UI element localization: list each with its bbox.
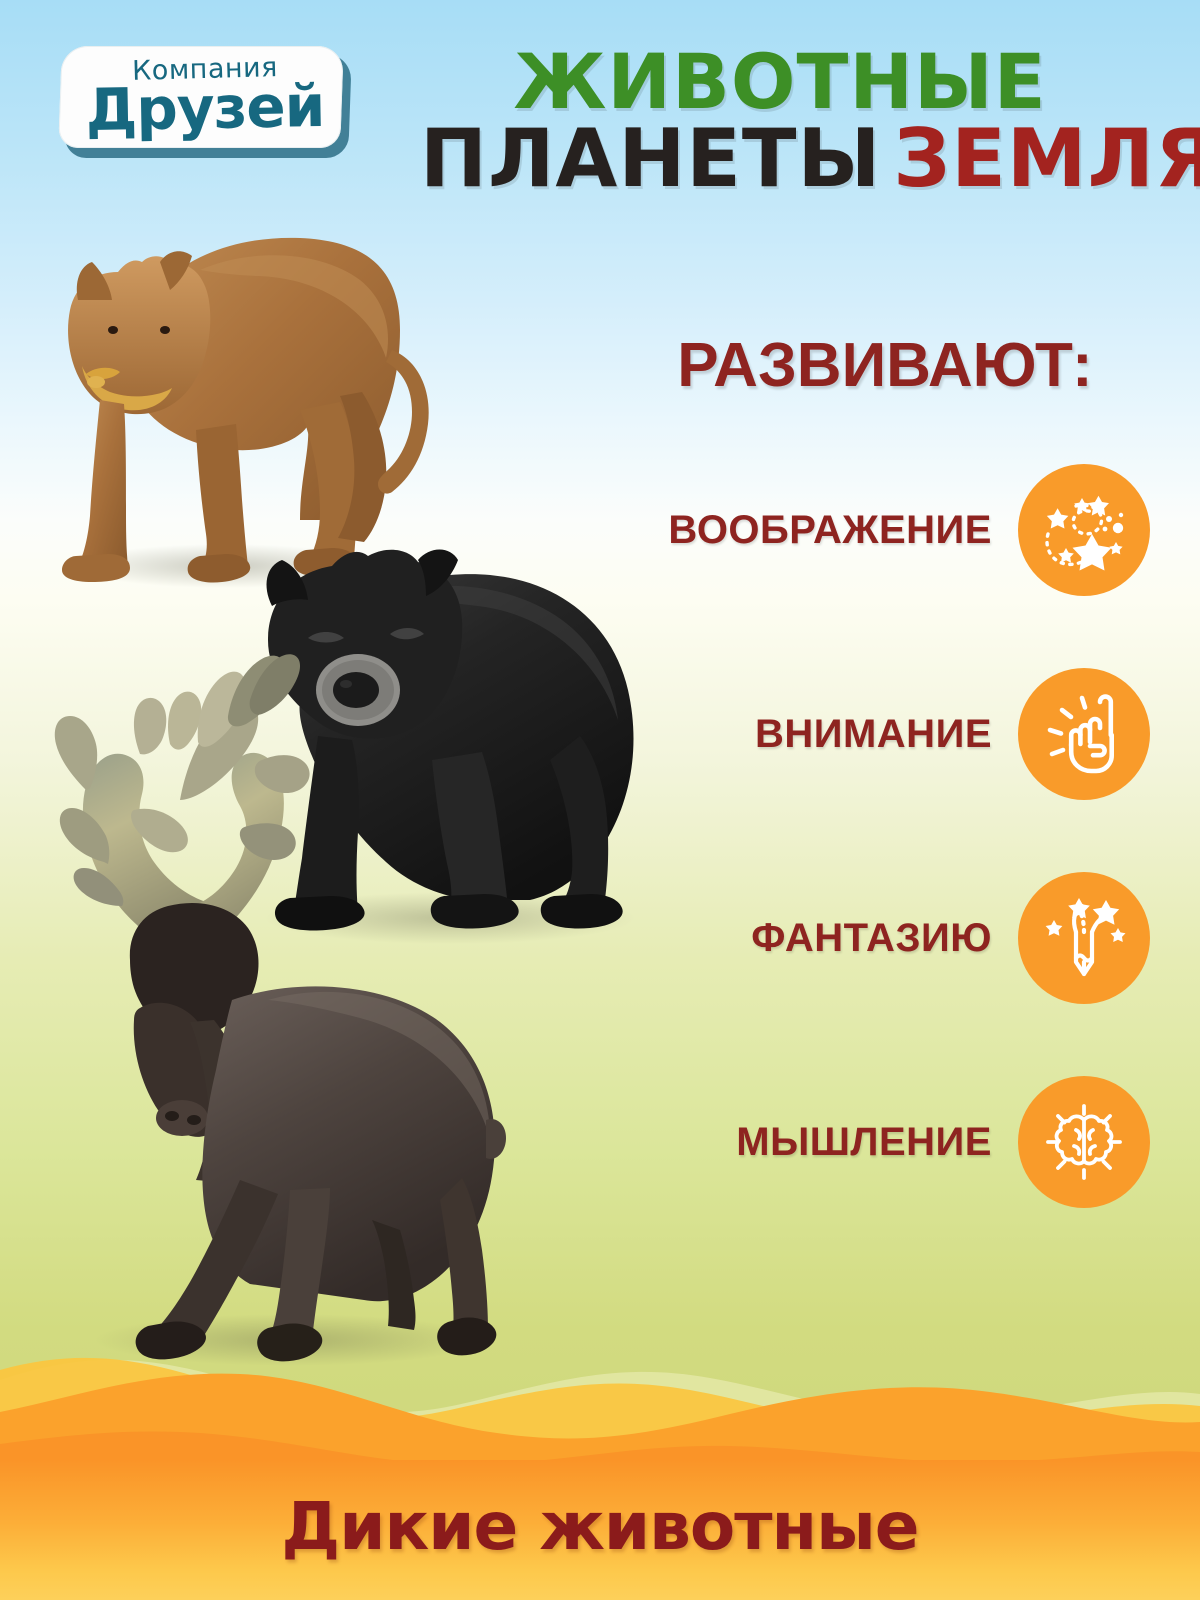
benefit-item-thinking: МЫШЛЕНИЕ xyxy=(520,1074,1150,1210)
footer-banner: Дикие животные xyxy=(0,1340,1200,1600)
product-poster: Компания Друзей ЖИВОТНЫЕ ПЛАНЕТЫЗЕМЛЯ РА… xyxy=(0,0,1200,1600)
benefits-heading: РАЗВИВАЮТ: xyxy=(630,330,1140,401)
benefit-item-imagination: ВООБРАЖЕНИЕ xyxy=(520,462,1150,598)
pencil-stars-icon xyxy=(1018,872,1150,1004)
footer-title: Дикие животные xyxy=(0,1488,1200,1565)
headline-line-1: ЖИВОТНЫЕ xyxy=(420,46,1140,117)
pointing-finger-icon xyxy=(1018,668,1150,800)
stars-sparkle-icon xyxy=(1018,464,1150,596)
benefit-item-fantasy: ФАНТАЗИЮ xyxy=(520,870,1150,1006)
benefit-label: ВООБРАЖЕНИЕ xyxy=(668,508,992,553)
headline-word-planety: ПЛАНЕТЫ xyxy=(420,112,881,205)
brand-logo[interactable]: Компания Друзей xyxy=(60,46,350,158)
benefits-list: ВООБРАЖЕНИЕ xyxy=(520,462,1150,1278)
benefit-label: ФАНТАЗИЮ xyxy=(751,916,992,961)
logo-text-bottom: Друзей xyxy=(60,76,351,139)
headline-line-2: ПЛАНЕТЫЗЕМЛЯ xyxy=(420,121,1140,196)
brain-icon xyxy=(1018,1076,1150,1208)
benefit-label: МЫШЛЕНИЕ xyxy=(736,1120,992,1165)
page-title: ЖИВОТНЫЕ ПЛАНЕТЫЗЕМЛЯ xyxy=(420,46,1140,197)
benefit-item-attention: ВНИМАНИЕ xyxy=(520,666,1150,802)
cougar-figurine-art xyxy=(62,238,429,588)
headline-word-zemlya: ЗЕМЛЯ xyxy=(893,112,1200,205)
benefit-label: ВНИМАНИЕ xyxy=(755,712,992,757)
